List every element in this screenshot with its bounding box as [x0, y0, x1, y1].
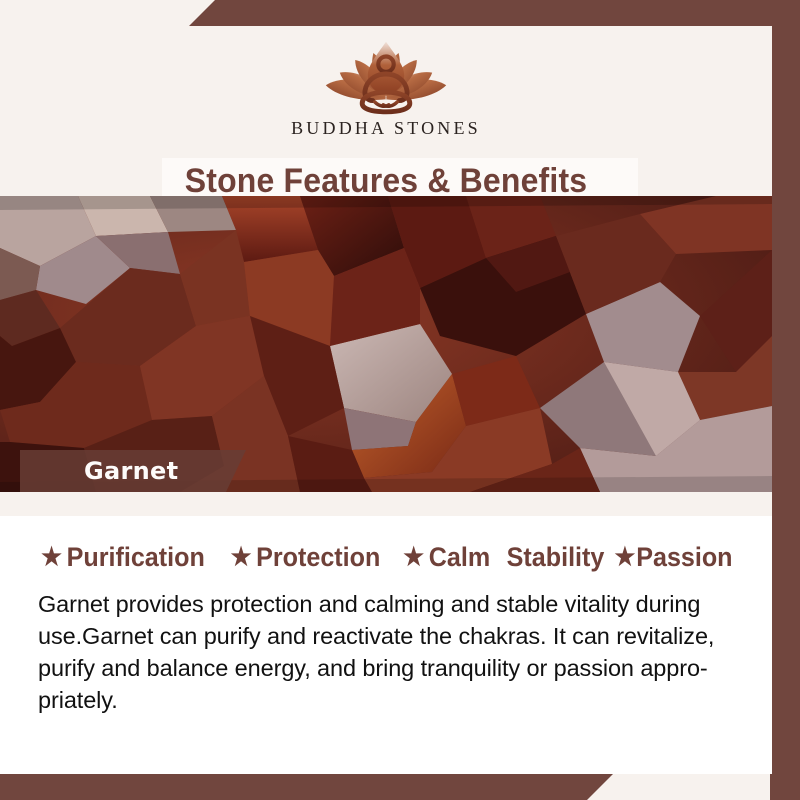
description-line: priately. [38, 684, 750, 716]
benefit-label: Stability [507, 542, 605, 573]
benefit-stability: Stability [507, 542, 605, 573]
benefits-row: ★ Purification ★ Protection ★ Calm Stabi… [0, 542, 772, 573]
benefit-label: Calm [428, 542, 489, 573]
card-sheet: BUDDHA STONES Stone Features & Benefits [0, 26, 772, 774]
benefit-calm: ★ Calm [403, 542, 490, 573]
benefit-label: Passion [636, 542, 732, 573]
star-icon: ★ [41, 545, 62, 570]
stone-description: Garnet provides protection and calming a… [38, 588, 750, 716]
benefit-passion: ★ Passion [615, 542, 733, 573]
benefit-label: Purification [66, 542, 204, 573]
content-panel: ★ Purification ★ Protection ★ Calm Stabi… [0, 492, 772, 774]
star-icon: ★ [615, 545, 636, 570]
description-line: purify and balance energy, and bring tra… [38, 652, 750, 684]
content-top-strip [0, 492, 772, 516]
brand-logo-block: BUDDHA STONES [0, 26, 772, 148]
frame-bottom-band [0, 770, 800, 800]
star-icon: ★ [403, 545, 424, 570]
garnet-crystals-photo [0, 196, 772, 492]
product-info-card: BUDDHA STONES Stone Features & Benefits [0, 0, 800, 800]
stone-photo [0, 196, 772, 492]
benefit-label: Protection [256, 542, 380, 573]
star-icon: ★ [230, 545, 251, 570]
description-line: Garnet provides protection and calming a… [38, 588, 750, 620]
description-line: use.Garnet can purify and reactivate the… [38, 620, 750, 652]
brand-name: BUDDHA STONES [291, 118, 481, 139]
lotus-meditation-icon [302, 32, 470, 116]
stone-name: Garnet [84, 457, 178, 485]
benefit-protection: ★ Protection [230, 542, 380, 573]
frame-right-band [770, 0, 800, 800]
stone-name-bar: Garnet [20, 450, 246, 492]
benefit-purification: ★ Purification [41, 542, 205, 573]
